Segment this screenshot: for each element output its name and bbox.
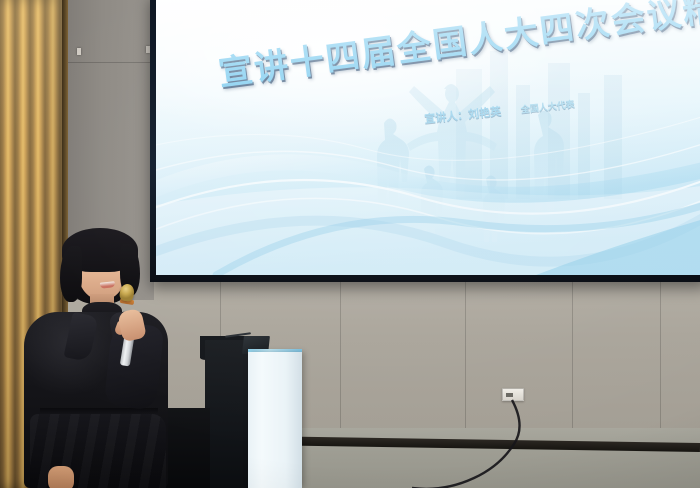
wall-panel-seam bbox=[465, 272, 466, 442]
lower-hand bbox=[48, 466, 74, 488]
wall-panel-seam bbox=[660, 272, 661, 442]
hair-side bbox=[60, 246, 82, 302]
projection-screen: 宣讲十四届全国人大四次会议精神 宣讲人：刘艳英 全国人大代表 bbox=[156, 0, 700, 275]
outlet-slot bbox=[506, 393, 513, 397]
grey-column-seam bbox=[68, 62, 154, 63]
lectern-front-panel: 人 大 青 bbox=[248, 352, 302, 488]
speaker-presenter bbox=[16, 228, 186, 488]
wall-fixture bbox=[77, 48, 81, 55]
lectern-dark-side bbox=[205, 340, 253, 488]
wall-panel-seam bbox=[572, 272, 573, 442]
projection-screen-bezel: 宣讲十四届全国人大四次会议精神 宣讲人：刘艳英 全国人大代表 bbox=[150, 0, 700, 282]
lecture-room-photo: 宣讲十四届全国人大四次会议精神 宣讲人：刘艳英 全国人大代表 人 大 青 bbox=[0, 0, 700, 488]
wall-power-outlet bbox=[502, 388, 524, 401]
wall-panel-seam bbox=[340, 272, 341, 442]
